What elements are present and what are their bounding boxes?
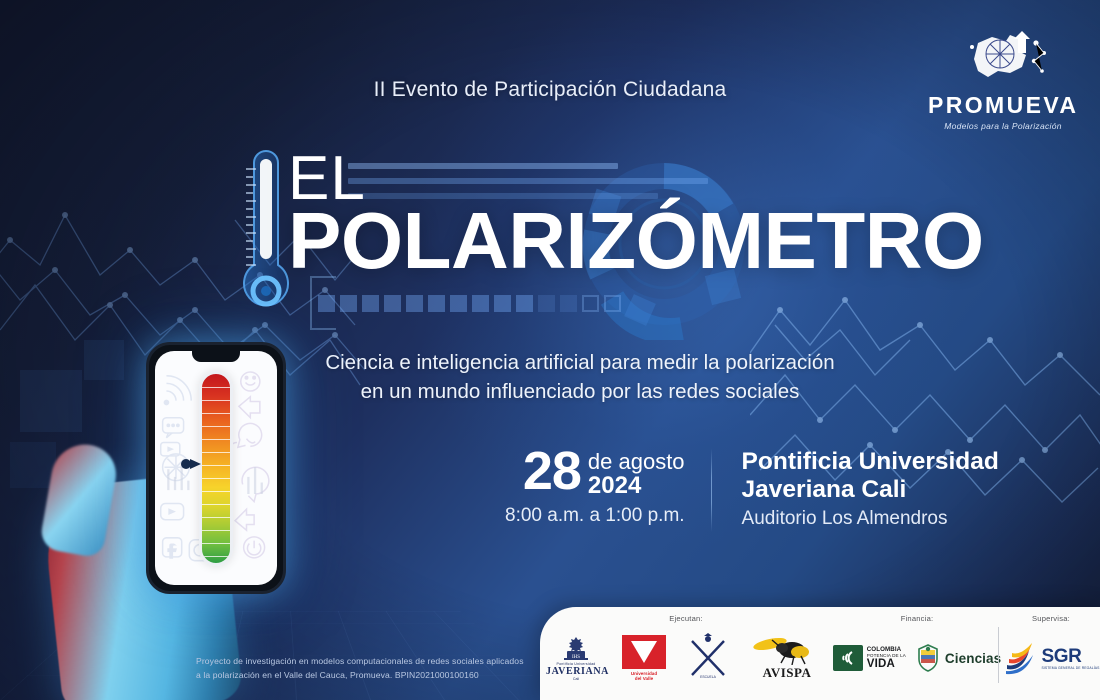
phone-in-hand-graphic [30,330,320,700]
promueva-network-map-icon [928,26,1078,90]
escuela-militar-x-logo: ESCUELA [682,633,734,684]
footer-group-supervisa: Supervisa: SGR SISTEMA GENERAL DE REGALÍ… [1002,607,1100,700]
event-year: 2024 [588,473,685,498]
sgr-wordmark: SGR [1042,647,1100,666]
sgr-logo: SGR SISTEMA GENERAL DE REGALÍAS [1003,641,1100,675]
polarization-meter-gradient [199,371,233,566]
escudo-colombia-icon [916,644,940,672]
event-details: 28 de agosto 2024 8:00 a.m. a 1:00 p.m. … [505,448,999,532]
title-decor-blocks [318,286,738,320]
avispa-logo: AVISPA [748,635,826,681]
poster-subtitle: Ciencia e inteligencia artificial para m… [250,348,910,406]
footer-divider [998,627,999,683]
colombia-line-1: COLOMBIA [867,646,901,653]
sgr-sub: SISTEMA GENERAL DE REGALÍAS [1042,666,1100,670]
title-line-2: POLARIZÓMETRO [288,203,948,280]
javeriana-logo-line3: Cali [546,677,606,681]
venue-line-1: Pontificia Universidad [742,448,999,476]
phone-screen [155,351,277,585]
smartphone-icon [146,342,286,594]
promueva-logo: PROMUEVA Modelos para la Polarización [928,26,1078,131]
ciencias-wordmark: Ciencias [945,651,1001,666]
event-hours: 8:00 a.m. a 1:00 p.m. [505,505,685,527]
colombia-line-3: VIDA [867,659,906,671]
meter-needle-icon [181,458,203,470]
footer-label-ejecutan: Ejecutan: [669,614,702,623]
venue-line-2: Javeriana Cali [742,476,999,504]
project-fineprint: Proyecto de investigación en modelos com… [196,654,556,682]
sgr-bird-icon [1003,641,1037,675]
svg-text:IHS: IHS [572,655,580,660]
universidad-del-valle-logo: Universidad del Valle [620,635,668,682]
event-venue-block: Pontificia Universidad Javeriana Cali Au… [712,448,999,530]
sponsors-footer: Ejecutan: IHS Pontificia Universidad [540,607,1100,700]
promueva-tagline: Modelos para la Polarización [928,121,1078,131]
avispa-wordmark: AVISPA [748,665,826,681]
event-day: 28 [523,448,581,496]
venue-room: Auditorio Los Almendros [742,508,999,530]
pontificia-universidad-javeriana-cali-logo: IHS Pontificia Universidad JAVERIANA Cal… [546,636,606,681]
svg-text:ESCUELA: ESCUELA [700,675,717,679]
fineprint-line-2: a la polarización en el Valle del Cauca,… [196,668,556,682]
fineprint-line-1: Proyecto de investigación en modelos com… [196,654,556,668]
colombia-potencia-de-la-vida-logo: COLOMBIA POTENCIA DE LA VIDA [833,645,906,671]
subtitle-line-1: Ciencia e inteligencia artificial para m… [250,348,910,377]
phone-notch [192,351,240,362]
colombia-mark-icon [833,645,863,671]
subtitle-line-2: en un mundo influenciado por las redes s… [250,377,910,406]
footer-label-financia: Financia: [901,614,934,623]
minciencias-logo: Ciencias [916,644,1001,672]
event-date-block: 28 de agosto 2024 8:00 a.m. a 1:00 p.m. [505,448,711,527]
footer-label-supervisa: Supervisa: [1032,614,1070,623]
javeriana-logo-line2: JAVERIANA [546,666,606,677]
footer-group-ejecutan: Ejecutan: IHS Pontificia Universidad [540,607,832,700]
event-month: de agosto [588,450,685,473]
univalle-caption-2: del Valle [620,676,668,681]
promueva-wordmark: PROMUEVA [928,92,1078,119]
page-title: EL POLARIZÓMETRO [288,150,948,280]
footer-group-financia: Financia: [832,607,1002,700]
event-poster: II Evento de Participación Ciudadana [0,0,1100,700]
